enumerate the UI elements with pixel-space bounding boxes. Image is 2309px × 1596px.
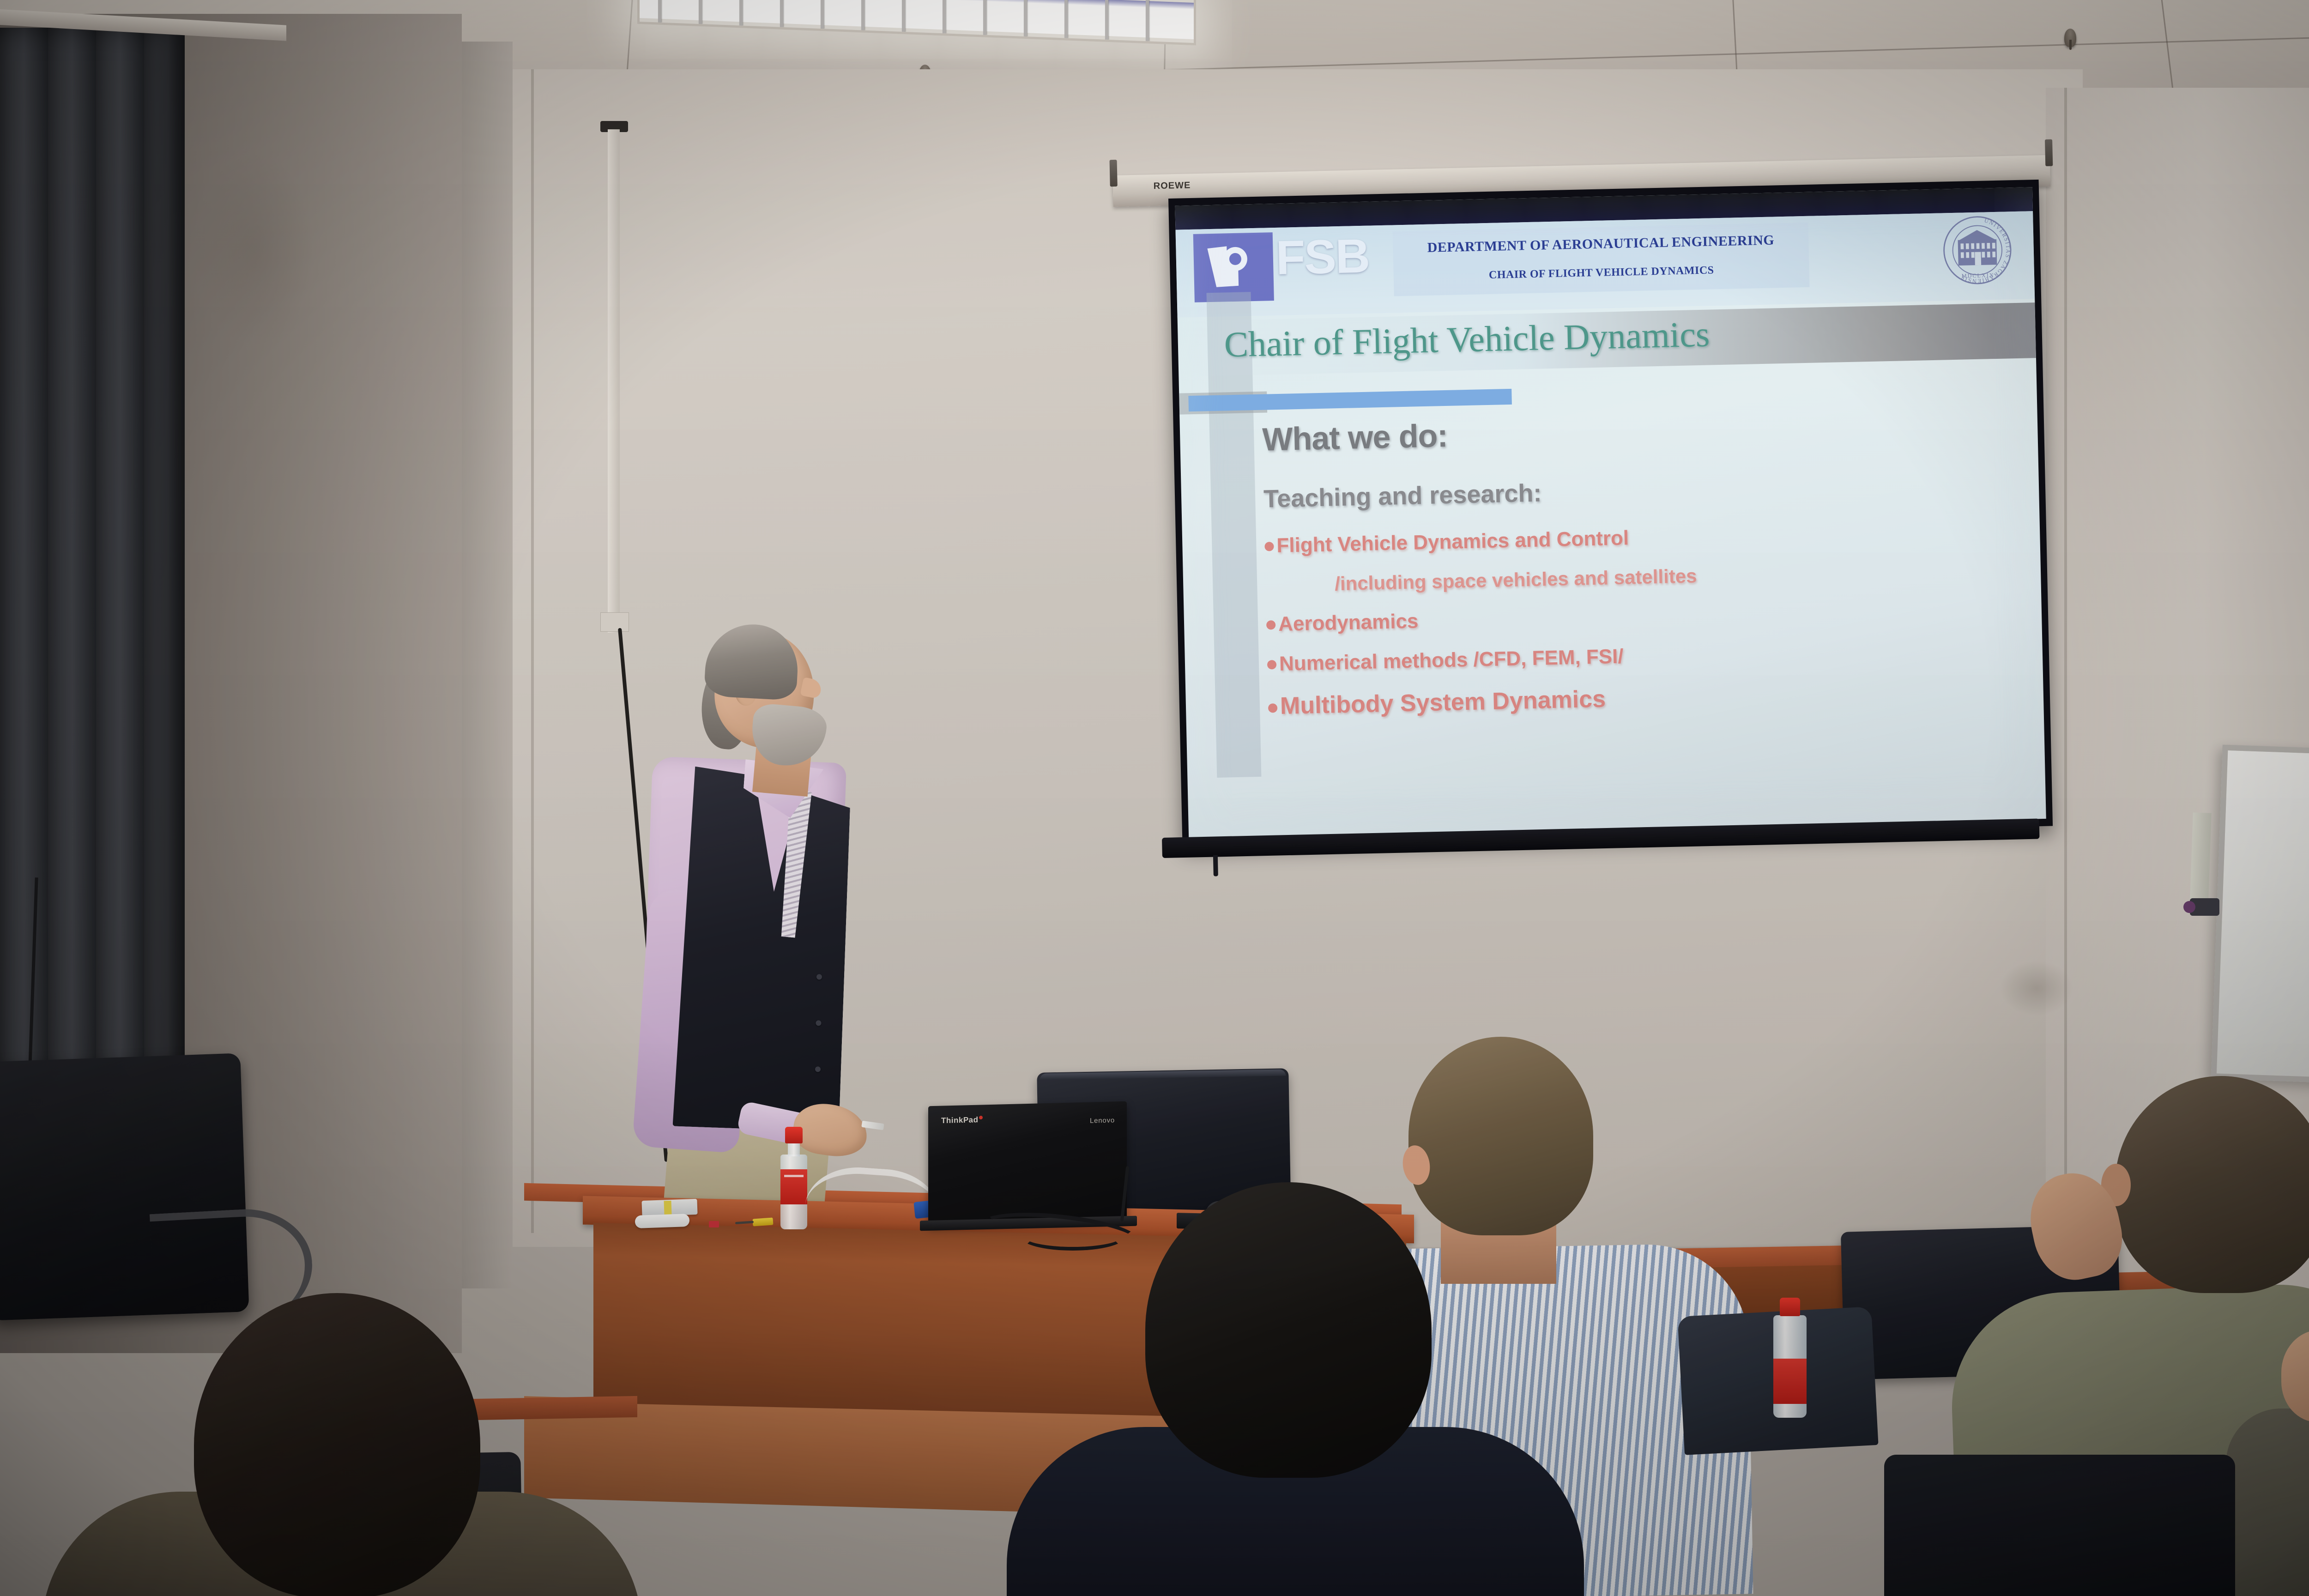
presenter-vest <box>672 766 851 1132</box>
list-item: /including space vehicles and satellites <box>1335 558 2013 595</box>
marker-package[interactable] <box>641 1199 697 1216</box>
bottle-label <box>1773 1359 1807 1404</box>
lecture-room-photo: ROEWE FSB DEPARTMENT OF AE <box>0 0 2309 1596</box>
bullet-text: /including space vehicles and satellites <box>1335 565 1697 594</box>
slide-heading: What we do: <box>1262 405 2010 458</box>
bullet-text: Flight Vehicle Dynamics and Control <box>1276 526 1629 557</box>
power-cord <box>1021 1223 1125 1251</box>
screen-mount-bracket-left <box>1110 160 1118 187</box>
whiteboard-eraser[interactable] <box>635 1214 690 1228</box>
screen-mount-bracket-right <box>2045 139 2053 166</box>
bullet-dot-icon <box>1267 660 1276 670</box>
bullet-dot-icon <box>1264 542 1274 551</box>
water-bottle[interactable] <box>780 1127 808 1229</box>
svg-text:MDCLXIX: MDCLXIX <box>1961 272 1994 279</box>
list-item: Multibody System Dynamics <box>1268 676 2016 720</box>
water-bottle[interactable] <box>1773 1298 1807 1418</box>
slide-body: What we do: Teaching and research: Fligh… <box>1262 405 2017 737</box>
bottle-cap <box>785 1127 803 1143</box>
audience-member-torso <box>2226 1409 2309 1596</box>
thinkpad-logo: ThinkPad <box>941 1115 983 1125</box>
office-chair[interactable] <box>1884 1455 2235 1596</box>
slide-header: FSB DEPARTMENT OF AERONAUTICAL ENGINEERI… <box>1175 211 2035 317</box>
slide-bullet-list: Flight Vehicle Dynamics and Control /inc… <box>1264 518 2016 720</box>
bullet-text: Aerodynamics <box>1278 610 1419 635</box>
screen-surface: FSB DEPARTMENT OF AERONAUTICAL ENGINEERI… <box>1175 187 2046 837</box>
fire-sprinkler-icon <box>2064 29 2076 47</box>
wall-cable-conduit <box>608 129 620 633</box>
red-clip[interactable] <box>709 1221 719 1227</box>
fsb-logo-text: FSB <box>1275 232 1370 282</box>
screen-brand-label: ROEWE <box>1154 180 1191 192</box>
whiteboard[interactable] <box>2211 744 2309 1086</box>
slide-subheading: Teaching and research: <box>1263 468 2012 513</box>
bullet-dot-icon <box>1266 621 1275 630</box>
bullet-dot-icon <box>1268 703 1277 713</box>
presentation-slide: FSB DEPARTMENT OF AERONAUTICAL ENGINEERI… <box>1175 187 2046 837</box>
list-item: Aerodynamics <box>1266 597 2014 636</box>
list-item: Flight Vehicle Dynamics and Control <box>1264 518 2013 557</box>
audience-member-head <box>1408 1037 1593 1235</box>
whiteboard-magnet-clip[interactable] <box>2190 898 2219 916</box>
projection-screen[interactable]: FSB DEPARTMENT OF AERONAUTICAL ENGINEERI… <box>1168 180 2053 845</box>
lenovo-logo: Lenovo <box>1090 1116 1115 1124</box>
wall-junction-box <box>600 612 629 632</box>
audience-member-head <box>1145 1182 1432 1478</box>
laptop[interactable]: ThinkPad Lenovo <box>928 1104 1127 1231</box>
list-item: Numerical methods /CFD, FEM, FSI/ <box>1267 636 2015 676</box>
bottle-neck <box>788 1143 800 1156</box>
usb-stick[interactable] <box>752 1217 773 1226</box>
bottle-cap <box>1780 1298 1800 1316</box>
bottle-label <box>780 1169 807 1204</box>
audience-member-head <box>194 1293 480 1596</box>
bullet-text: Multibody System Dynamics <box>1280 686 1606 719</box>
bullet-text: Numerical methods /CFD, FEM, FSI/ <box>1279 645 1624 675</box>
university-seal-icon: UNIVERSITAS ZAGRABIENSIS MDCLXIX <box>1941 214 2013 286</box>
fsb-logo-icon <box>1205 245 1258 290</box>
